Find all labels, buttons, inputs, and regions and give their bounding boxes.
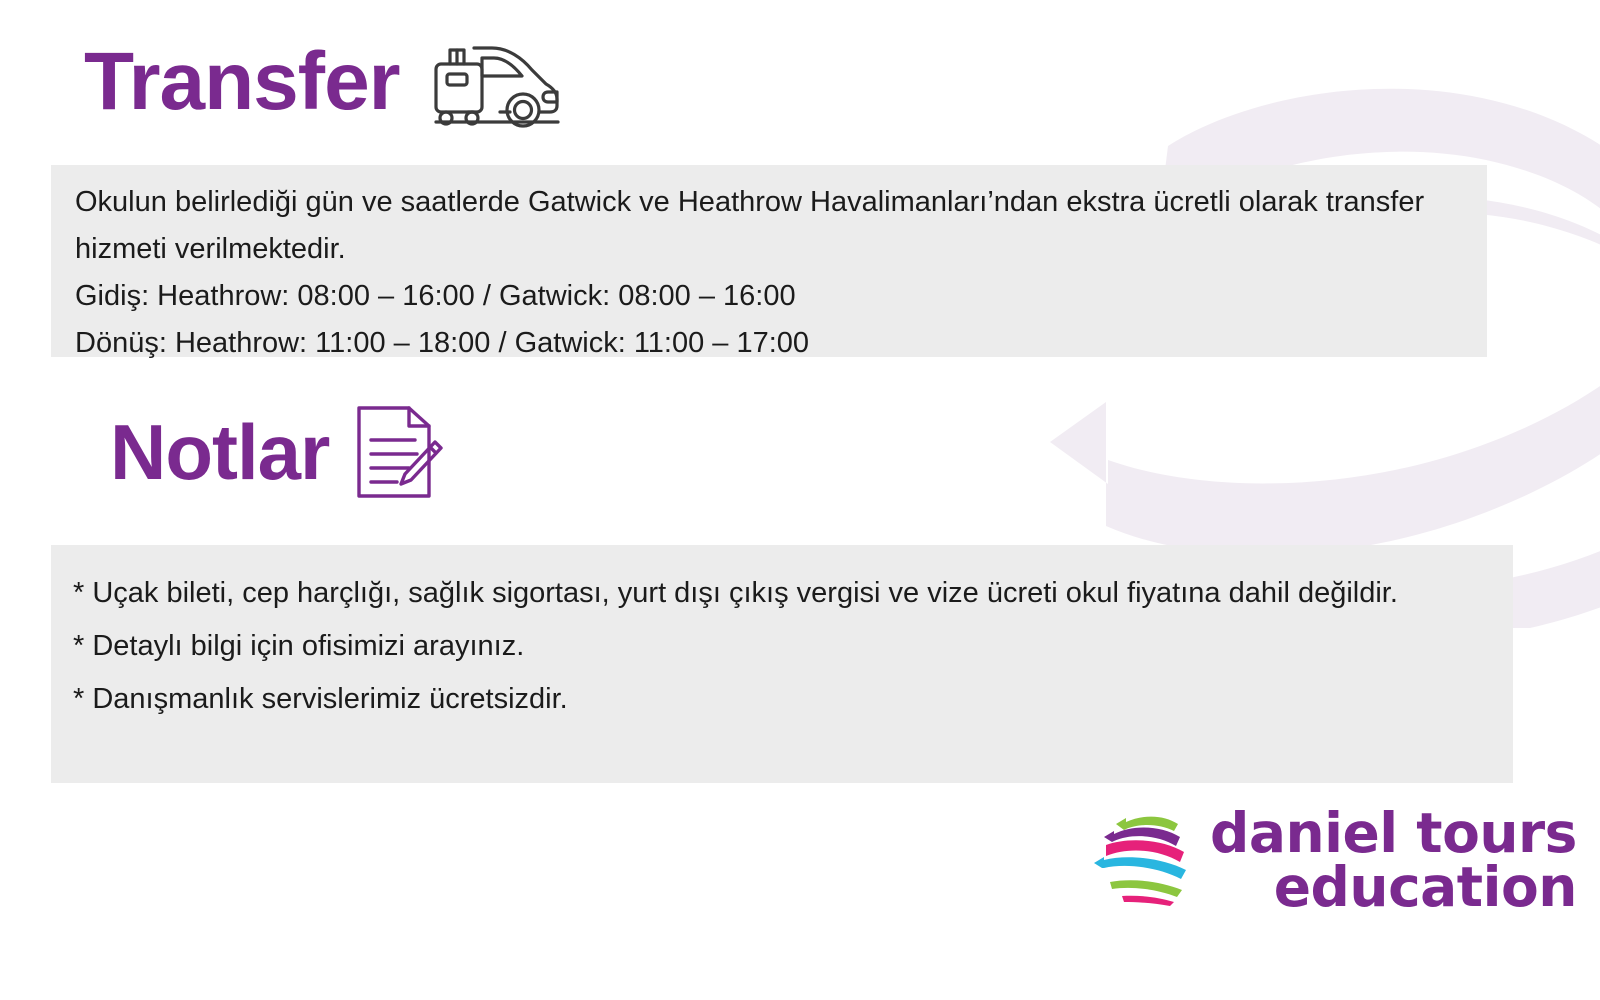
transfer-info-panel: Okulun belirlediği gün ve saatlerde Gatw… xyxy=(51,165,1487,357)
luggage-van-icon xyxy=(422,36,564,128)
globe-swoosh-icon xyxy=(1090,806,1194,915)
logo-line-daniel-tours: daniel tours xyxy=(1210,807,1577,861)
transfer-heading-label: Transfer xyxy=(84,41,400,123)
transfer-line-1: Okulun belirlediği gün ve saatlerde Gatw… xyxy=(75,179,1463,273)
transfer-line-2: Gidiş: Heathrow: 08:00 – 16:00 / Gatwick… xyxy=(75,273,1463,320)
notes-line-3: * Danışmanlık servislerimiz ücretsizdir. xyxy=(73,673,1489,726)
notes-line-1: * Uçak bileti, cep harçlığı, sağlık sigo… xyxy=(73,567,1489,620)
transfer-section-heading: Transfer xyxy=(84,36,564,128)
transfer-line-3: Dönüş: Heathrow: 11:00 – 18:00 / Gatwick… xyxy=(75,320,1463,367)
notes-line-2: * Detaylı bilgi için ofisimizi arayınız. xyxy=(73,620,1489,673)
brand-wordmark: daniel tours education xyxy=(1210,807,1577,915)
brand-logo: daniel tours education xyxy=(1090,806,1577,915)
poster-page: Transfer xyxy=(0,0,1600,1000)
logo-line-education: education xyxy=(1210,861,1577,915)
notes-info-panel: * Uçak bileti, cep harçlığı, sağlık sigo… xyxy=(51,545,1513,783)
notlar-heading-label: Notlar xyxy=(110,413,329,491)
notlar-section-heading: Notlar xyxy=(110,402,443,502)
note-pencil-icon xyxy=(351,402,443,502)
